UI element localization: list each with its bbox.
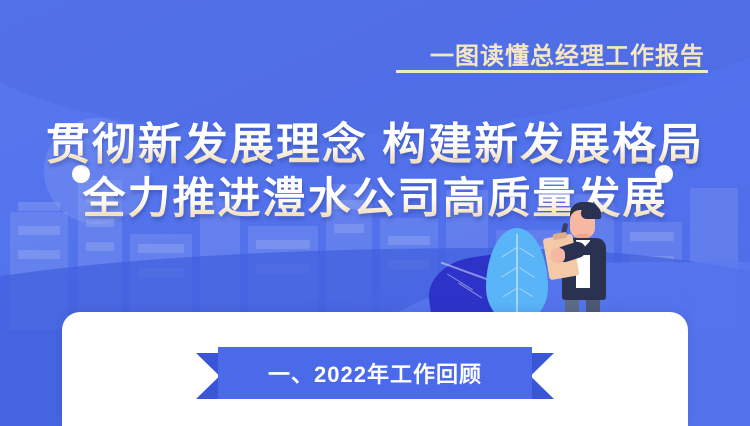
poster-canvas: 一图读懂总经理工作报告 贯彻新发展理念 构建新发展格局 全力推进澧水公司高质量发…	[0, 0, 750, 426]
light-blue-leaf-icon	[486, 228, 548, 324]
title-line-1: 贯彻新发展理念 构建新发展格局	[0, 118, 750, 172]
header-underline	[396, 70, 708, 73]
section-ribbon: 一、2022年工作回顾	[196, 347, 554, 399]
businessman-figure	[548, 202, 624, 330]
section-title: 一、2022年工作回顾	[218, 347, 532, 399]
hero-illustration	[410, 200, 670, 330]
